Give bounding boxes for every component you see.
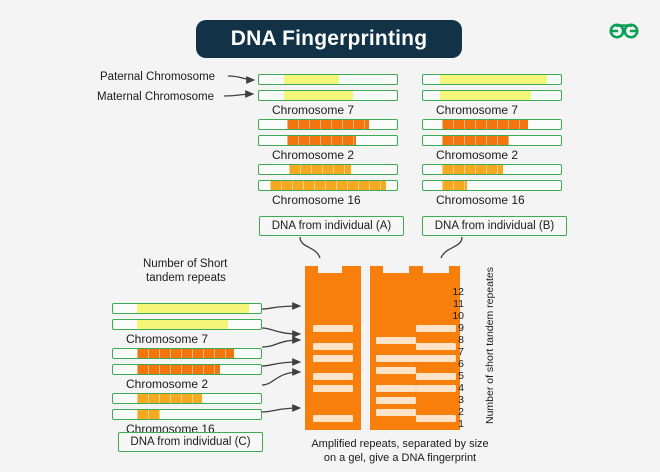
repeat-segment [284,75,339,84]
gel-well-2 [383,266,409,273]
gel-band-lane-b-2 [376,355,416,362]
gel-well-3 [423,266,449,273]
chromosome-bar-c-1-paternal [112,303,262,314]
gel-well-1 [318,266,342,273]
chromosome-caption-a-3: Chromosome 16 [272,193,361,207]
repeat-segment [440,75,548,84]
repeat-segment [442,181,467,190]
repeat-segment [442,120,528,129]
repeat-segment [442,136,508,145]
chromosome-bar-b-1-paternal [422,74,562,85]
dna-individual-b-label: DNA from individual (B) [435,220,555,232]
chromosome-caption-b-3: Chromosome 16 [436,193,525,207]
repeat-segment [270,181,386,190]
chromosome-bar-a-1-paternal [258,74,398,85]
repeat-segment [284,91,353,100]
chromosome-bar-c-2-paternal [112,348,262,359]
repeat-segment [137,410,161,419]
gel-scale-number-3: 3 [450,394,464,406]
gel-axis-title: Number of short tandem repeates [484,267,496,424]
repeat-segment [137,365,220,374]
chromosome-caption-c-2: Chromosome 2 [126,377,208,391]
chromosome-bar-a-2-paternal [258,119,398,130]
dna-individual-c-box[interactable]: DNA from individual (C) [118,432,263,452]
chromosome-bar-c-2-maternal [112,364,262,375]
gel-band-lane-b-1 [376,337,416,344]
chromosome-bar-c-3-paternal [112,393,262,404]
str-count-label-line2: tandem repeats [146,272,226,284]
chromosome-bar-b-3-maternal [422,180,562,191]
gel-scale-number-7: 7 [450,346,464,358]
dna-individual-b-box[interactable]: DNA from individual (B) [422,216,567,236]
gel-caption-line2: on a gel, give a DNA fingerprint [300,451,500,465]
repeat-segment [289,165,351,174]
gel-scale-number-9: 9 [450,322,464,334]
chromosome-bar-b-3-paternal [422,164,562,175]
chromosome-bar-b-1-maternal [422,90,562,101]
gel-scale-number-2: 2 [450,406,464,418]
gel-band-lane-b-5 [376,397,416,404]
maternal-chromosome-label: Maternal Chromosome [97,91,214,103]
chromosome-bar-c-1-maternal [112,319,262,330]
gel-band-lane-a-5 [313,385,353,392]
gel-scale-number-8: 8 [450,334,464,346]
gel-scale-number-11: 11 [450,298,464,310]
repeat-segment [137,349,235,358]
gel-band-lane-b-6 [376,409,416,416]
geeksforgeeks-logo [604,18,644,42]
repeat-segment [137,320,229,329]
gel-band-lane-a-1 [313,325,353,332]
page-title-text: DNA Fingerprinting [231,27,427,51]
chromosome-bar-a-3-maternal [258,180,398,191]
dna-individual-c-label: DNA from individual (C) [130,436,250,448]
page-title: DNA Fingerprinting [196,20,462,58]
chromosome-bar-c-3-maternal [112,409,262,420]
gel-band-lane-b-4 [376,385,416,392]
gel-band-lane-a-6 [313,415,353,422]
gel-caption-line1: Amplified repeats, separated by size [300,437,500,451]
repeat-segment [287,120,370,129]
gel-band-lane-b-3 [376,367,416,374]
chromosome-bar-a-2-maternal [258,135,398,146]
repeat-segment [137,304,249,313]
chromosome-bar-b-2-paternal [422,119,562,130]
gel-scale-number-4: 4 [450,382,464,394]
chromosome-bar-a-1-maternal [258,90,398,101]
gel-band-lane-a-2 [313,343,353,350]
chromosome-bar-b-2-maternal [422,135,562,146]
gel-band-lane-a-3 [313,355,353,362]
chromosome-caption-a-1: Chromosome 7 [272,103,354,117]
gel-scale-number-5: 5 [450,370,464,382]
gel-scale-number-12: 12 [450,286,464,298]
chromosome-caption-c-1: Chromosome 7 [126,332,208,346]
chromosome-caption-b-1: Chromosome 7 [436,103,518,117]
repeat-segment [440,91,531,100]
diagram-canvas: DNA Fingerprinting Paternal Chromosome M… [0,0,660,472]
dna-individual-a-box[interactable]: DNA from individual (A) [259,216,404,236]
repeat-segment [137,394,202,403]
repeat-segment [442,165,503,174]
gel-scale-number-6: 6 [450,358,464,370]
gel-scale-number-1: 1 [450,418,464,430]
gel-scale-number-10: 10 [450,310,464,322]
chromosome-caption-a-2: Chromosome 2 [272,148,354,162]
dna-individual-a-label: DNA from individual (A) [272,220,392,232]
str-count-label-line1: Number of Short [143,258,227,270]
gel-band-lane-a-4 [313,373,353,380]
repeat-segment [287,136,356,145]
chromosome-bar-a-3-paternal [258,164,398,175]
paternal-chromosome-label: Paternal Chromosome [100,71,215,83]
chromosome-caption-b-2: Chromosome 2 [436,148,518,162]
